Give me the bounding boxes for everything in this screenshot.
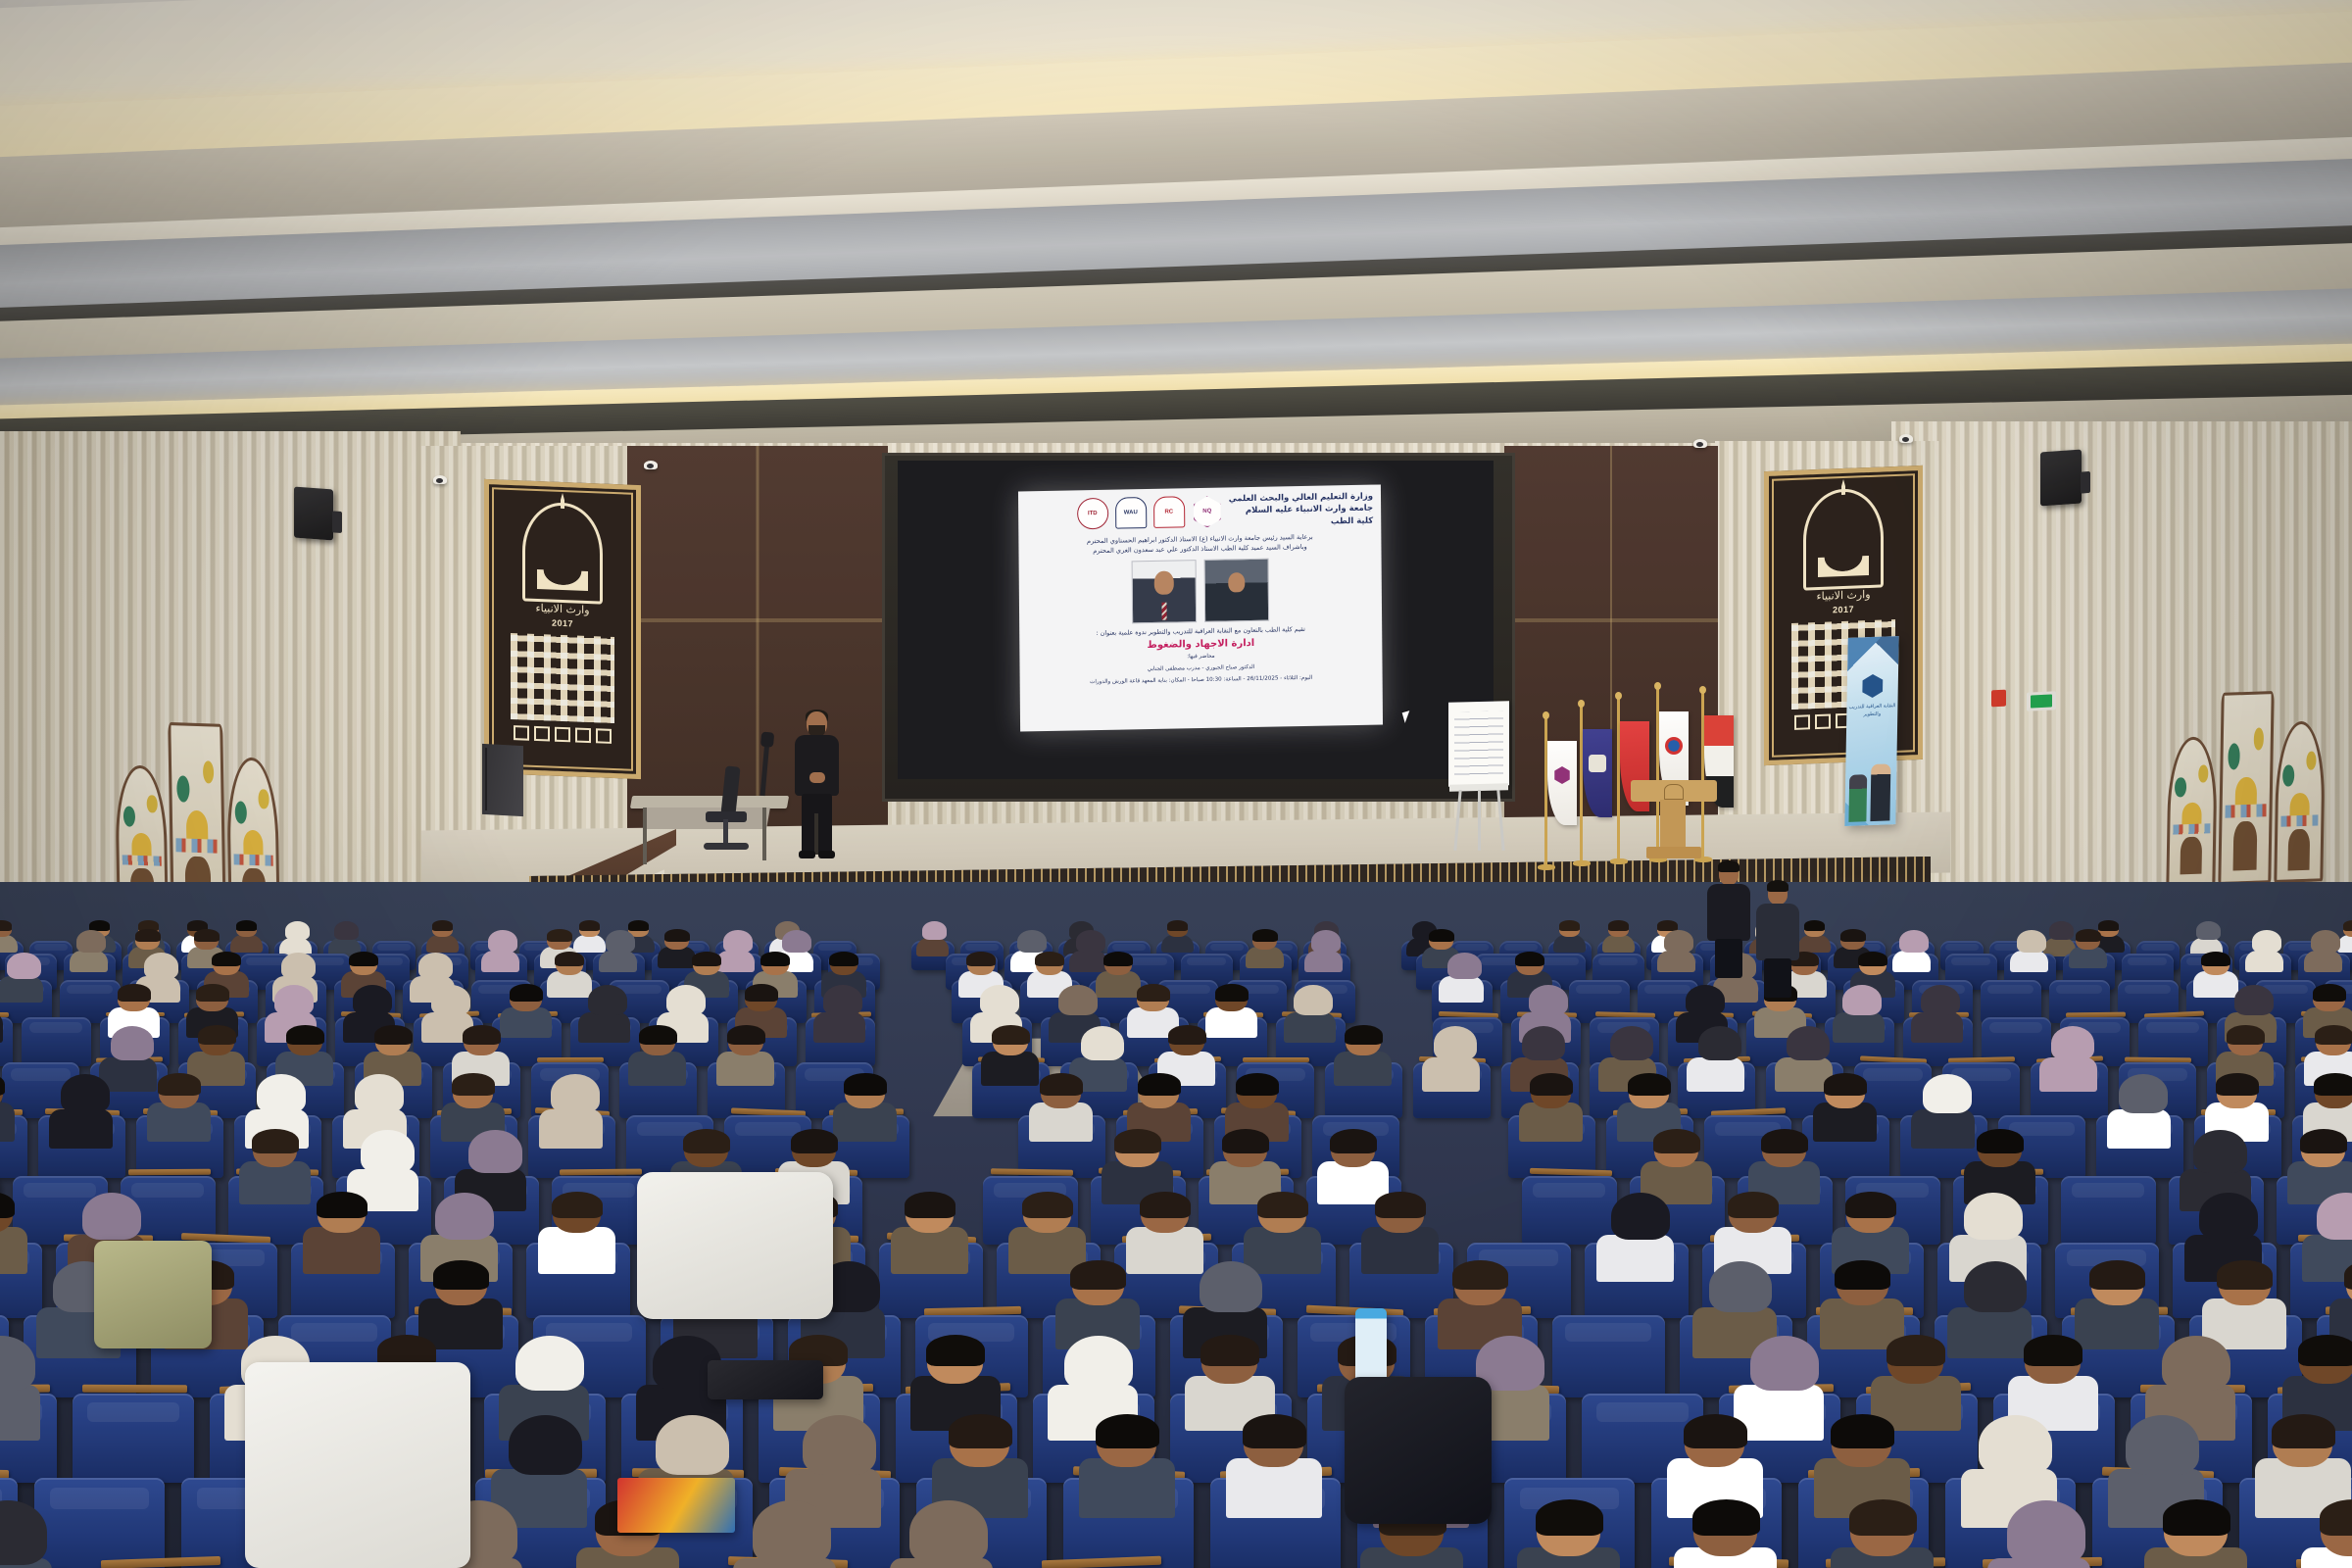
hair (1222, 1129, 1269, 1153)
torso (1246, 947, 1284, 969)
standing-attendee (1705, 862, 1752, 978)
torso (1657, 951, 1695, 973)
hair (2343, 920, 2352, 931)
head-with-hijab (2051, 1026, 2095, 1061)
hair (2217, 1260, 2272, 1290)
audience-member (1814, 1415, 1913, 1502)
audience-member (108, 985, 161, 1030)
head-with-hijab (551, 1074, 600, 1113)
head-with-hijab (588, 985, 627, 1015)
ceiling-security-camera-3 (1693, 439, 1707, 448)
audience-member (0, 985, 4, 1030)
torso (0, 1227, 27, 1274)
audience-member (1055, 1261, 1142, 1337)
hair (683, 1129, 730, 1153)
audience-member (1205, 985, 1258, 1030)
hair (1840, 929, 1866, 942)
hair (118, 984, 151, 1002)
hair (579, 920, 600, 931)
hair (1215, 984, 1249, 1002)
audience-member (1734, 1336, 1826, 1417)
head-with-hijab (431, 985, 470, 1015)
audience-member (2069, 930, 2108, 963)
audience-member (49, 1074, 115, 1132)
audience-member (2108, 1415, 2207, 1502)
hair (727, 1025, 765, 1045)
hair (1761, 1129, 1808, 1153)
handbag (94, 1241, 212, 1348)
audience-member (275, 1026, 335, 1077)
audience-member (1519, 1074, 1585, 1132)
torso (1798, 935, 1831, 954)
audience-member (1304, 930, 1344, 963)
head-with-hijab (1610, 1026, 1654, 1061)
hair (286, 1025, 324, 1045)
torso (1079, 1458, 1175, 1517)
hair (2024, 1335, 2083, 1366)
hair (1429, 929, 1454, 942)
audience-member (1048, 1336, 1140, 1417)
torso (1422, 1057, 1480, 1092)
audience-member (426, 921, 459, 949)
audience-member (1987, 1500, 2093, 1568)
hair (2344, 1260, 2352, 1290)
head-with-hijab (909, 1500, 988, 1564)
torso (1833, 1012, 1884, 1043)
wall-speaker-left (294, 487, 333, 541)
speaker-portrait-photo (1132, 560, 1198, 623)
head-with-hijab (1522, 1026, 1566, 1061)
torso (70, 951, 108, 973)
torso (1553, 935, 1586, 954)
audience-member (1813, 1074, 1879, 1132)
head-with-hijab (509, 1415, 582, 1475)
hair (1849, 1499, 1917, 1536)
hair (1728, 1192, 1779, 1218)
audience-member (1598, 1026, 1658, 1077)
hair (194, 929, 220, 942)
audience-member (303, 1193, 382, 1262)
audience-member (1127, 1074, 1193, 1132)
head-with-hijab (666, 985, 706, 1015)
audience-member (186, 985, 239, 1030)
audience-member (2216, 1026, 2276, 1077)
hair (1559, 920, 1580, 931)
hair (1345, 1025, 1383, 1045)
audience-member (0, 1500, 55, 1568)
torso (49, 1109, 114, 1148)
torso (1596, 1235, 1674, 1282)
hair (432, 920, 453, 931)
hair (1375, 1192, 1426, 1218)
standing-attendee (1754, 882, 1801, 998)
audience-member (599, 930, 638, 963)
torso (481, 951, 519, 973)
hair (1114, 1129, 1161, 1153)
audience-member (328, 921, 361, 949)
audience-member (1127, 985, 1180, 1030)
audience-member (813, 985, 866, 1030)
slide-photo-row (1027, 556, 1374, 625)
head-with-hijab (468, 1130, 522, 1173)
hair (1252, 929, 1278, 942)
head-with-hijab (723, 930, 753, 953)
calligraphy-arabic-left: وارث الانبياء (535, 602, 589, 616)
hair (1536, 1499, 1603, 1536)
audience-member (1049, 985, 1102, 1030)
audience-member (2302, 1193, 2352, 1262)
folding-writing-desk[interactable] (559, 1168, 641, 1175)
university-calligraphy-panel-left: وارث الانبياء 2017 (484, 479, 641, 779)
calligraphy-arabic-right: وارث الانبياء (1816, 588, 1870, 603)
hair (1257, 1192, 1308, 1218)
ceiling-security-camera-4 (1899, 434, 1913, 443)
audience-member (2008, 1336, 2100, 1417)
audience-member (1833, 985, 1886, 1030)
audience-member (1284, 985, 1337, 1030)
audience-member (455, 1130, 527, 1194)
audience-member (1911, 985, 1964, 1030)
audience-member (2039, 1026, 2099, 1077)
audience-member (538, 1193, 617, 1262)
audience-member (539, 1074, 605, 1132)
hair (547, 929, 572, 942)
audience-member (1161, 921, 1194, 949)
head-with-hijab (823, 985, 862, 1015)
hair (252, 1129, 299, 1153)
university-seal-logo: WAU (1115, 498, 1147, 530)
hair (198, 1025, 236, 1045)
wooden-podium[interactable] (1627, 780, 1721, 862)
hair (2298, 1335, 2352, 1366)
head-with-hijab (606, 930, 635, 953)
audience-member (1687, 1026, 1746, 1077)
head-with-hijab (1076, 930, 1105, 953)
backpack (1345, 1377, 1492, 1524)
torso (538, 1227, 615, 1274)
folding-writing-desk[interactable] (2125, 1056, 2192, 1062)
hair (1035, 952, 1064, 966)
audience-member (716, 1026, 776, 1077)
hair (196, 984, 229, 1002)
torso (426, 935, 459, 954)
audience-member (735, 985, 788, 1030)
audience-member (1334, 1026, 1394, 1077)
hair (1977, 1129, 2024, 1153)
head-with-hijab (1842, 985, 1882, 1015)
kufic-pattern-left (511, 633, 614, 723)
hair (212, 952, 241, 966)
audience-member (657, 985, 710, 1030)
audience-member (481, 930, 520, 963)
hair (0, 1073, 5, 1096)
hair (2300, 1129, 2347, 1153)
audience-member (1674, 1500, 1780, 1568)
audience-member (1676, 985, 1729, 1030)
head-with-hijab (2017, 930, 2046, 953)
head-with-hijab (1964, 1193, 2023, 1240)
torso (628, 1052, 686, 1086)
audience-member (2255, 1415, 2352, 1502)
audience-member (1641, 1130, 1713, 1194)
audience-member (239, 1130, 312, 1194)
slide-patron-block: برعاية السيد رئيس جامعة وارث الانبياء (ع… (1026, 532, 1373, 559)
audience-member (1069, 1026, 1129, 1077)
mosaic-panel-6 (2274, 720, 2326, 883)
head-with-hijab (1709, 1261, 1773, 1313)
rollup-banner: النقابة العراقية للتدريب والتطوير (1844, 636, 1898, 826)
hair (1515, 952, 1544, 966)
audience-member (347, 1130, 419, 1194)
audience-member (2225, 985, 2278, 1030)
auditorium-seat[interactable] (22, 1017, 91, 1066)
hair (1692, 1499, 1760, 1536)
mobile-phone (708, 1360, 823, 1399)
head-with-hijab (1434, 1026, 1478, 1061)
head-with-hijab (7, 953, 41, 979)
audience-member (1361, 1193, 1441, 1262)
audience-member (1947, 1261, 2033, 1337)
torso (147, 1102, 212, 1141)
mosaic-panel-4 (2166, 736, 2218, 887)
audience-member (1510, 1026, 1570, 1077)
audience-member (1964, 1130, 2036, 1194)
hair (844, 1073, 886, 1096)
hair (1103, 952, 1133, 966)
audience-member (1553, 921, 1586, 949)
hair (0, 1192, 15, 1218)
audience-member (1244, 1193, 1323, 1262)
head-with-hijab (2252, 930, 2281, 953)
torso (1304, 951, 1343, 973)
audience-member (981, 1026, 1041, 1077)
head-with-hijab (2007, 1500, 2085, 1564)
torso (0, 935, 18, 954)
head-with-hijab (2193, 1130, 2247, 1173)
torso (813, 1012, 864, 1043)
hair (0, 920, 12, 931)
audience-member (1317, 1130, 1390, 1194)
torso (0, 1102, 15, 1141)
torso (1226, 1458, 1322, 1517)
audience-member (2145, 1336, 2237, 1417)
hair (1858, 952, 1887, 966)
audience-member (1657, 930, 1696, 963)
hair (2201, 952, 2230, 966)
audience-member (916, 921, 949, 949)
head-with-hijab (418, 953, 453, 979)
head-with-hijab (2119, 1074, 2168, 1113)
audience-member (2075, 1261, 2161, 1337)
head-with-hijab (1611, 1193, 1670, 1240)
audience-member (0, 921, 19, 949)
hair (2089, 1260, 2144, 1290)
audience-member (785, 1415, 884, 1502)
emergency-exit-sign (2027, 691, 2056, 711)
audience-member (1798, 921, 1831, 949)
white-lab-coat (245, 1362, 470, 1568)
head-with-hijab (2317, 1193, 2352, 1240)
audience-member (932, 1415, 1031, 1502)
torso (1029, 1102, 1094, 1141)
audience-member (2202, 1261, 2288, 1337)
standing-presenter (790, 711, 843, 860)
head-with-hijab (2162, 1336, 2230, 1392)
hair (317, 1192, 367, 1218)
head-with-hijab (1529, 985, 1568, 1015)
hair (949, 1414, 1012, 1448)
audience-member (1438, 1261, 1524, 1337)
audience-member (891, 1193, 970, 1262)
head-with-hijab (285, 921, 310, 940)
hair (2315, 1025, 2352, 1045)
fire-alarm-call-point[interactable] (1991, 690, 2006, 708)
audience-member (0, 953, 44, 992)
hair (2320, 1499, 2352, 1536)
hair (1824, 1073, 1866, 1096)
audience-member (2303, 1074, 2352, 1132)
torso (230, 935, 263, 954)
auditorium-scene: ITD WAU RC NQ وزارة التعليم العالي والبح… (0, 0, 2352, 1568)
flipchart-easel[interactable] (1448, 702, 1509, 851)
hair (829, 952, 858, 966)
head-with-hijab (1294, 985, 1333, 1015)
auditorium-seat[interactable] (73, 1394, 194, 1483)
hair (745, 984, 778, 1002)
torso (1361, 1227, 1439, 1274)
head-with-hijab (274, 985, 314, 1015)
hair (1138, 1073, 1180, 1096)
folding-writing-desk[interactable] (82, 1385, 187, 1394)
head-with-hijab (803, 1415, 876, 1475)
torso (2010, 951, 2048, 973)
head-with-hijab (281, 953, 316, 979)
head-with-hijab (361, 1130, 415, 1173)
head-with-hijab (334, 921, 359, 940)
audience-member (441, 1074, 507, 1132)
audience-member (1246, 930, 1285, 963)
hair (1804, 920, 1825, 931)
hair (1243, 1414, 1306, 1448)
audience-member (1226, 1415, 1325, 1502)
folding-writing-desk[interactable] (1243, 1057, 1309, 1062)
hair (1096, 1414, 1159, 1448)
white-lab-coat (637, 1172, 833, 1319)
hair (1022, 1192, 1073, 1218)
torso (1911, 1012, 1962, 1043)
audience-member (499, 1336, 591, 1417)
audience-member (147, 1074, 213, 1132)
audience-member (1079, 1415, 1178, 1502)
wood-panel-left (627, 446, 888, 838)
auditorium-seat[interactable] (1552, 1315, 1665, 1397)
office-chair[interactable] (698, 766, 751, 857)
torso (1892, 951, 1931, 973)
torso (1519, 1102, 1584, 1141)
torso (2245, 951, 2283, 973)
hair (966, 952, 996, 966)
arched-mosaic-wall-art-right (2166, 689, 2326, 887)
audience-member (421, 985, 474, 1030)
head-with-hijab (922, 921, 947, 940)
head-with-hijab (2126, 1415, 2199, 1475)
hair (992, 1025, 1030, 1045)
audience-member (500, 985, 553, 1030)
auditorium-seat[interactable] (2061, 1176, 2156, 1245)
audience-member (2107, 1074, 2173, 1132)
hair (1168, 1025, 1206, 1045)
audience-member (0, 1193, 29, 1262)
hair (1140, 1192, 1191, 1218)
hair (433, 1260, 488, 1290)
audience-member (2190, 921, 2223, 949)
audience-member (1183, 1261, 1269, 1337)
head-with-hijab (1064, 1336, 1133, 1392)
audience-member (420, 1193, 500, 1262)
head-with-hijab (82, 1193, 141, 1240)
hair (2313, 984, 2346, 1002)
hair (158, 1073, 200, 1096)
wall-speaker-right (2040, 450, 2082, 507)
torso (1161, 935, 1194, 954)
head-with-hijab (1058, 985, 1098, 1015)
head-with-hijab (2234, 985, 2274, 1015)
torso (891, 1227, 968, 1274)
head-with-hijab (753, 1500, 831, 1564)
folding-writing-desk[interactable] (537, 1056, 605, 1061)
head-with-hijab (1979, 1415, 2052, 1475)
head-with-hijab (111, 1026, 155, 1061)
red-crescent-logo: RC (1153, 497, 1185, 529)
calligraphy-year-left: 2017 (552, 618, 573, 629)
audience-member (187, 1026, 247, 1077)
audience-member (910, 1336, 1003, 1417)
ceiling-security-camera-1 (433, 475, 447, 484)
audience-member (265, 985, 318, 1030)
hair (1684, 1414, 1747, 1448)
head-with-hijab (435, 1193, 494, 1240)
head-with-hijab (1447, 953, 1482, 979)
torso (1813, 1102, 1878, 1141)
hair (2163, 1499, 2230, 1536)
torso (1284, 1012, 1335, 1043)
torso (239, 1161, 310, 1204)
hair (1835, 1260, 1889, 1290)
hair (236, 920, 257, 931)
hair (2227, 1025, 2265, 1045)
audience-member (1126, 1193, 1205, 1262)
hair (510, 984, 543, 1002)
audience-member (2304, 930, 2343, 963)
head-with-hijab (1311, 930, 1341, 953)
hair (452, 1073, 494, 1096)
audience-member (343, 1074, 409, 1132)
presentation-slide: ITD WAU RC NQ وزارة التعليم العالي والبح… (1018, 484, 1383, 731)
torso (916, 938, 949, 956)
hair (905, 1192, 955, 1218)
slide-header-text: وزارة التعليم العالي والبحث العلمي جامعة… (1229, 491, 1374, 530)
audience-member (2180, 1130, 2252, 1194)
audience-member (1832, 1193, 1911, 1262)
floor-cabinet (482, 744, 523, 816)
torso (2069, 947, 2107, 969)
audience-member (364, 1026, 423, 1077)
audience-member (1692, 1261, 1779, 1337)
hair (1200, 1335, 1260, 1366)
head-with-hijab (1664, 930, 1693, 953)
torso (2107, 1109, 2172, 1148)
folding-writing-desk[interactable] (127, 1168, 210, 1175)
